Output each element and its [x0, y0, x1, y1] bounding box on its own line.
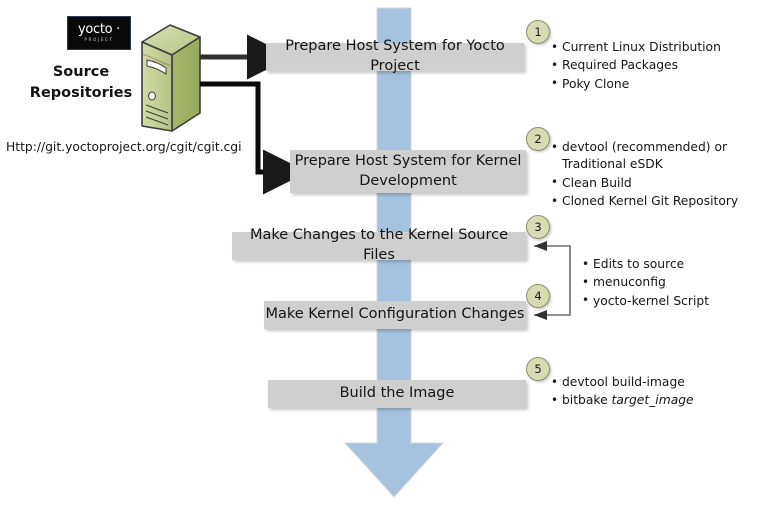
list-item: Edits to source: [582, 256, 767, 273]
step-number-1: 1: [526, 20, 550, 44]
feedback-loop-connector: [534, 241, 570, 320]
list-item: menuconfig: [582, 274, 767, 291]
list-item: Clean Build: [551, 175, 766, 192]
yocto-project-logo: yocto · PROJECT: [67, 16, 131, 50]
list-item: Cloned Kernel Git Repository: [551, 193, 766, 210]
step-number-3: 3: [526, 215, 550, 239]
list-item: yocto-kernel Script: [582, 293, 767, 310]
list-item: Poky Clone: [551, 76, 766, 93]
process-box-build-image[interactable]: Build the Image: [268, 380, 526, 408]
process-box-prepare-host-kernel[interactable]: Prepare Host System for Kernel Developme…: [290, 150, 526, 193]
step2-bullet-list: devtool (recommended) or Traditional eSD…: [551, 139, 766, 212]
list-item: bitbake target_image: [551, 392, 766, 409]
list-item: devtool build-image: [551, 374, 766, 391]
process-box-make-kernel-source-changes[interactable]: Make Changes to the Kernel Source Files: [232, 232, 526, 260]
process-box-make-kernel-config-changes[interactable]: Make Kernel Configuration Changes: [264, 301, 526, 329]
list-item: Required Packages: [551, 57, 766, 74]
step1-bullet-list: Current Linux Distribution Required Pack…: [551, 39, 766, 94]
source-repositories-label: Source Repositories: [22, 62, 140, 104]
step-number-2: 2: [526, 127, 550, 151]
steps34-shared-bullet-list: Edits to source menuconfig yocto-kernel …: [582, 256, 767, 311]
source-repositories-url: Http://git.yoctoproject.org/cgit/cgit.cg…: [6, 140, 242, 154]
step-number-5: 5: [526, 357, 550, 381]
yocto-logo-subtext: PROJECT: [84, 38, 113, 42]
list-item: devtool (recommended) or Traditional eSD…: [551, 139, 766, 174]
step-number-4: 4: [526, 284, 550, 308]
diagram-canvas: yocto · PROJECT Source Repositories Http…: [0, 0, 769, 517]
process-box-prepare-host-yocto[interactable]: Prepare Host System for Yocto Project: [266, 43, 524, 71]
list-item: Current Linux Distribution: [551, 39, 766, 56]
server-tower-icon: [142, 25, 200, 131]
yocto-logo-wordmark: yocto ·: [78, 23, 120, 36]
connector-server-to-step2: [200, 84, 268, 172]
step5-bullet-list: devtool build-image bitbake target_image: [551, 374, 766, 411]
